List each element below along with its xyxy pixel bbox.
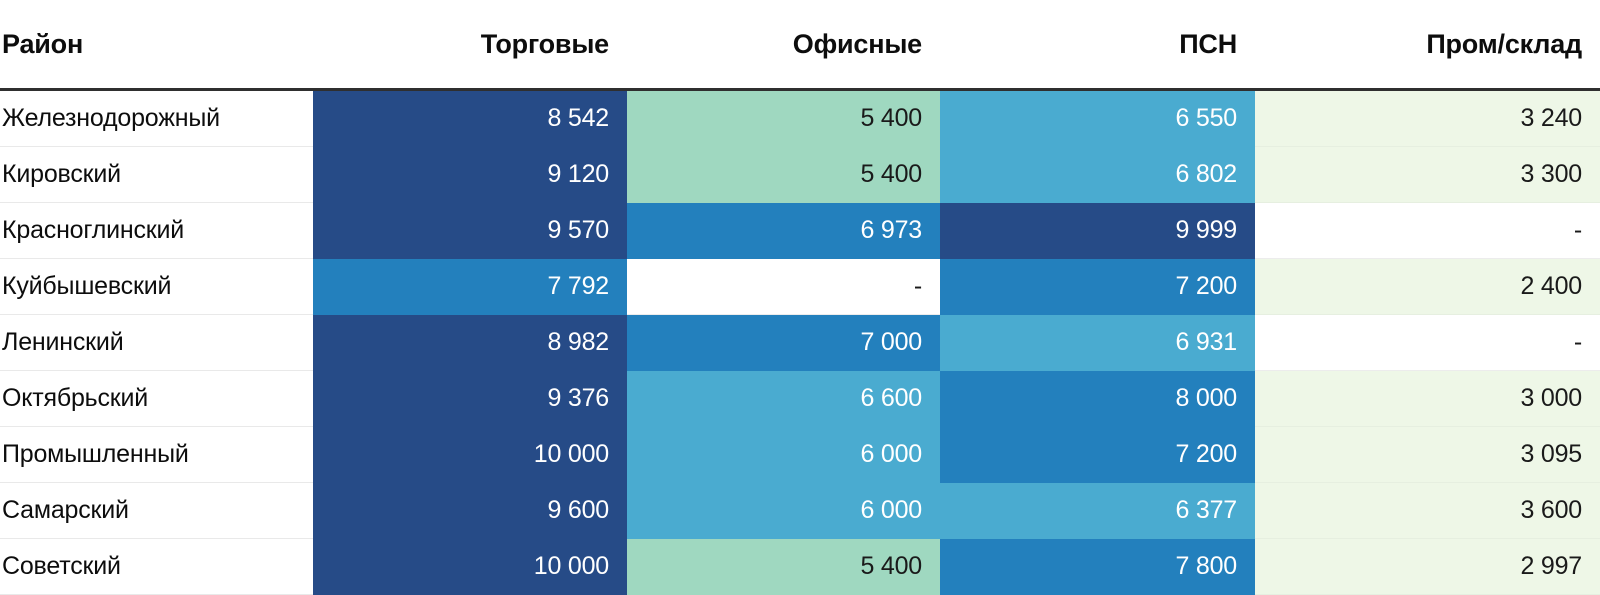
column-header-district[interactable]: Район bbox=[0, 0, 313, 90]
cell-district: Куйбышевский bbox=[0, 259, 313, 315]
cell-industrial: 3 240 bbox=[1255, 90, 1600, 147]
table-row: Кировский9 1205 4006 8023 300 bbox=[0, 147, 1600, 203]
cell-office: 6 600 bbox=[627, 371, 940, 427]
cell-office: 5 400 bbox=[627, 147, 940, 203]
table-body: Железнодорожный8 5425 4006 5503 240Киров… bbox=[0, 90, 1600, 595]
cell-industrial: 3 095 bbox=[1255, 427, 1600, 483]
cell-retail: 9 376 bbox=[313, 371, 627, 427]
cell-retail: 9 600 bbox=[313, 483, 627, 539]
table-row: Октябрьский9 3766 6008 0003 000 bbox=[0, 371, 1600, 427]
cell-psn: 7 200 bbox=[940, 259, 1255, 315]
cell-district: Красноглинский bbox=[0, 203, 313, 259]
cell-district: Самарский bbox=[0, 483, 313, 539]
cell-office: 6 973 bbox=[627, 203, 940, 259]
cell-district: Ленинский bbox=[0, 315, 313, 371]
cell-psn: 7 200 bbox=[940, 427, 1255, 483]
header-row: Район Торговые Офисные ПСН Пром/склад bbox=[0, 0, 1600, 90]
cell-office: 5 400 bbox=[627, 539, 940, 595]
cell-office: 5 400 bbox=[627, 90, 940, 147]
cell-psn: 6 931 bbox=[940, 315, 1255, 371]
cell-industrial: 2 400 bbox=[1255, 259, 1600, 315]
cell-district: Железнодорожный bbox=[0, 90, 313, 147]
cell-industrial: 2 997 bbox=[1255, 539, 1600, 595]
cell-retail: 8 542 bbox=[313, 90, 627, 147]
rates-heatmap-table: Район Торговые Офисные ПСН Пром/склад Же… bbox=[0, 0, 1600, 595]
table-header: Район Торговые Офисные ПСН Пром/склад bbox=[0, 0, 1600, 90]
cell-psn: 6 802 bbox=[940, 147, 1255, 203]
cell-psn: 6 550 bbox=[940, 90, 1255, 147]
cell-industrial: 3 000 bbox=[1255, 371, 1600, 427]
cell-industrial: - bbox=[1255, 315, 1600, 371]
cell-office: 6 000 bbox=[627, 483, 940, 539]
cell-office: 7 000 bbox=[627, 315, 940, 371]
table-row: Красноглинский9 5706 9739 999- bbox=[0, 203, 1600, 259]
cell-district: Октябрьский bbox=[0, 371, 313, 427]
table-row: Промышленный10 0006 0007 2003 095 bbox=[0, 427, 1600, 483]
table-row: Советский10 0005 4007 8002 997 bbox=[0, 539, 1600, 595]
table-row: Железнодорожный8 5425 4006 5503 240 bbox=[0, 90, 1600, 147]
cell-office: 6 000 bbox=[627, 427, 940, 483]
column-header-retail[interactable]: Торговые bbox=[313, 0, 627, 90]
column-header-office[interactable]: Офисные bbox=[627, 0, 940, 90]
cell-industrial: 3 300 bbox=[1255, 147, 1600, 203]
cell-retail: 8 982 bbox=[313, 315, 627, 371]
cell-district: Советский bbox=[0, 539, 313, 595]
cell-psn: 6 377 bbox=[940, 483, 1255, 539]
cell-psn: 8 000 bbox=[940, 371, 1255, 427]
table-row: Самарский9 6006 0006 3773 600 bbox=[0, 483, 1600, 539]
cell-district: Промышленный bbox=[0, 427, 313, 483]
cell-district: Кировский bbox=[0, 147, 313, 203]
cell-psn: 7 800 bbox=[940, 539, 1255, 595]
cell-retail: 10 000 bbox=[313, 539, 627, 595]
column-header-industrial[interactable]: Пром/склад bbox=[1255, 0, 1600, 90]
cell-retail: 9 120 bbox=[313, 147, 627, 203]
column-header-psn[interactable]: ПСН bbox=[940, 0, 1255, 90]
cell-psn: 9 999 bbox=[940, 203, 1255, 259]
table-row: Куйбышевский7 792-7 2002 400 bbox=[0, 259, 1600, 315]
cell-industrial: 3 600 bbox=[1255, 483, 1600, 539]
cell-industrial: - bbox=[1255, 203, 1600, 259]
cell-retail: 7 792 bbox=[313, 259, 627, 315]
cell-retail: 9 570 bbox=[313, 203, 627, 259]
table-row: Ленинский8 9827 0006 931- bbox=[0, 315, 1600, 371]
cell-retail: 10 000 bbox=[313, 427, 627, 483]
cell-office: - bbox=[627, 259, 940, 315]
